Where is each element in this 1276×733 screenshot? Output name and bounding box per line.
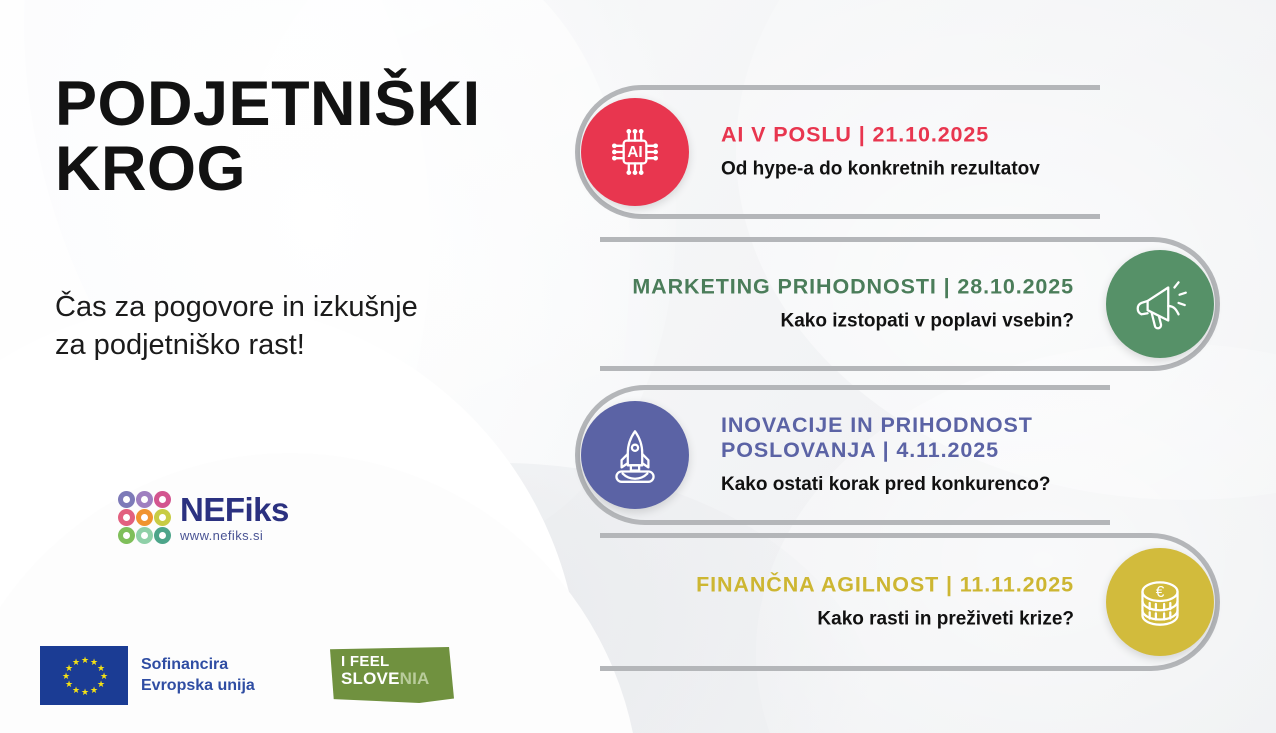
eu-caption-line-1: Sofinancira	[141, 655, 255, 675]
nefiks-logo: NEFiks www.nefiks.si	[118, 491, 289, 544]
eu-star: ★	[65, 681, 71, 687]
nefiks-wordmark: NEFiks www.nefiks.si	[180, 493, 289, 543]
event-text: FINANČNA AGILNOST | 11.11.2025 Kako rast…	[696, 573, 1074, 632]
eu-caption: Sofinancira Evropska unija	[141, 655, 255, 696]
slovenia-line-1: I FEEL	[341, 654, 454, 670]
event-title-line-1: INOVACIJE IN PRIHODNOST	[721, 413, 1033, 437]
rocket-icon	[602, 422, 668, 488]
event-subtitle: Od hype-a do konkretnih rezultatov	[721, 159, 1040, 182]
eu-star: ★	[90, 659, 96, 665]
nefiks-dot	[136, 491, 153, 508]
nefiks-dot-grid	[118, 491, 171, 544]
slovenia-line-2-gray: NIA	[400, 669, 430, 688]
nefiks-dot	[154, 527, 171, 544]
page-title: PODJETNIŠKI KROG	[55, 72, 525, 202]
nefiks-url: www.nefiks.si	[180, 528, 289, 543]
event-card-financna[interactable]: € FINANČNA AGILNOST | 11.11.2025 Kako ra…	[605, 533, 1220, 671]
title-line-1: PODJETNIŠKI	[55, 69, 481, 139]
event-subtitle: Kako ostati korak pred konkurenco?	[721, 474, 1050, 497]
event-title: FINANČNA AGILNOST | 11.11.2025	[696, 573, 1074, 598]
event-list: AI	[540, 0, 1276, 733]
event-title: MARKETING PRIHODNOSTI | 28.10.2025	[632, 275, 1074, 300]
nefiks-dot	[118, 491, 135, 508]
euro-coins-icon: €	[1127, 569, 1193, 635]
nefiks-dot	[154, 491, 171, 508]
eu-star: ★	[72, 659, 78, 665]
event-text: INOVACIJE IN PRIHODNOST POSLOVANJA | 4.1…	[721, 413, 1050, 497]
eu-flag: ★ ★ ★ ★ ★ ★ ★ ★ ★ ★ ★ ★	[40, 646, 128, 705]
poster-canvas: PODJETNIŠKI KROG Čas za pogovore in izku…	[0, 0, 1276, 733]
svg-text:AI: AI	[627, 144, 642, 161]
slovenia-line-2: SLOVENIA	[341, 670, 454, 688]
event-text: MARKETING PRIHODNOSTI | 28.10.2025 Kako …	[632, 275, 1074, 334]
eu-star: ★	[81, 689, 87, 695]
event-title-line-2: POSLOVANJA | 4.11.2025	[721, 438, 999, 462]
eu-star: ★	[65, 665, 71, 671]
ai-chip-icon: AI	[602, 119, 668, 185]
event-text: AI V POSLU | 21.10.2025 Od hype-a do kon…	[721, 123, 1040, 182]
subtitle-line-2: za podjetniško rast!	[55, 326, 525, 365]
eu-star: ★	[90, 687, 96, 693]
event-subtitle: Kako rasti in preživeti krize?	[696, 609, 1074, 632]
title-line-2: KROG	[55, 137, 525, 202]
page-subtitle: Čas za pogovore in izkušnje za podjetniš…	[55, 288, 525, 365]
eu-caption-line-2: Evropska unija	[141, 676, 255, 696]
event-icon-badge: AI	[581, 98, 689, 206]
nefiks-dot	[154, 509, 171, 526]
event-card-ai[interactable]: AI	[575, 85, 1095, 219]
eu-star: ★	[62, 673, 68, 679]
svg-text:€: €	[1156, 584, 1165, 601]
nefiks-dot	[118, 527, 135, 544]
event-icon-badge: €	[1106, 548, 1214, 656]
event-subtitle: Kako izstopati v poplavi vsebin?	[632, 311, 1074, 334]
event-card-marketing[interactable]: MARKETING PRIHODNOSTI | 28.10.2025 Kako …	[605, 237, 1220, 371]
megaphone-icon	[1127, 271, 1193, 337]
event-icon-badge	[1106, 250, 1214, 358]
headline-block: PODJETNIŠKI KROG Čas za pogovore in izku…	[55, 72, 525, 365]
logo-bar: NEFiks www.nefiks.si ★ ★ ★ ★ ★ ★ ★ ★ ★ ★…	[0, 483, 520, 733]
nefiks-name: NEFiks	[180, 493, 289, 526]
subtitle-line-1: Čas za pogovore in izkušnje	[55, 291, 418, 323]
eu-logo: ★ ★ ★ ★ ★ ★ ★ ★ ★ ★ ★ ★ Sofinancira Evro…	[40, 646, 255, 705]
event-card-inovacije[interactable]: INOVACIJE IN PRIHODNOST POSLOVANJA | 4.1…	[575, 385, 1105, 525]
slovenia-line-2-white: SLOVE	[341, 669, 400, 688]
nefiks-dot	[136, 509, 153, 526]
nefiks-dot	[136, 527, 153, 544]
event-title: INOVACIJE IN PRIHODNOST POSLOVANJA | 4.1…	[721, 413, 1050, 463]
event-title: AI V POSLU | 21.10.2025	[721, 123, 1040, 148]
nefiks-dot	[118, 509, 135, 526]
eu-star: ★	[81, 657, 87, 663]
event-icon-badge	[581, 401, 689, 509]
i-feel-slovenia-logo: I FEEL SLOVENIA	[330, 647, 454, 703]
